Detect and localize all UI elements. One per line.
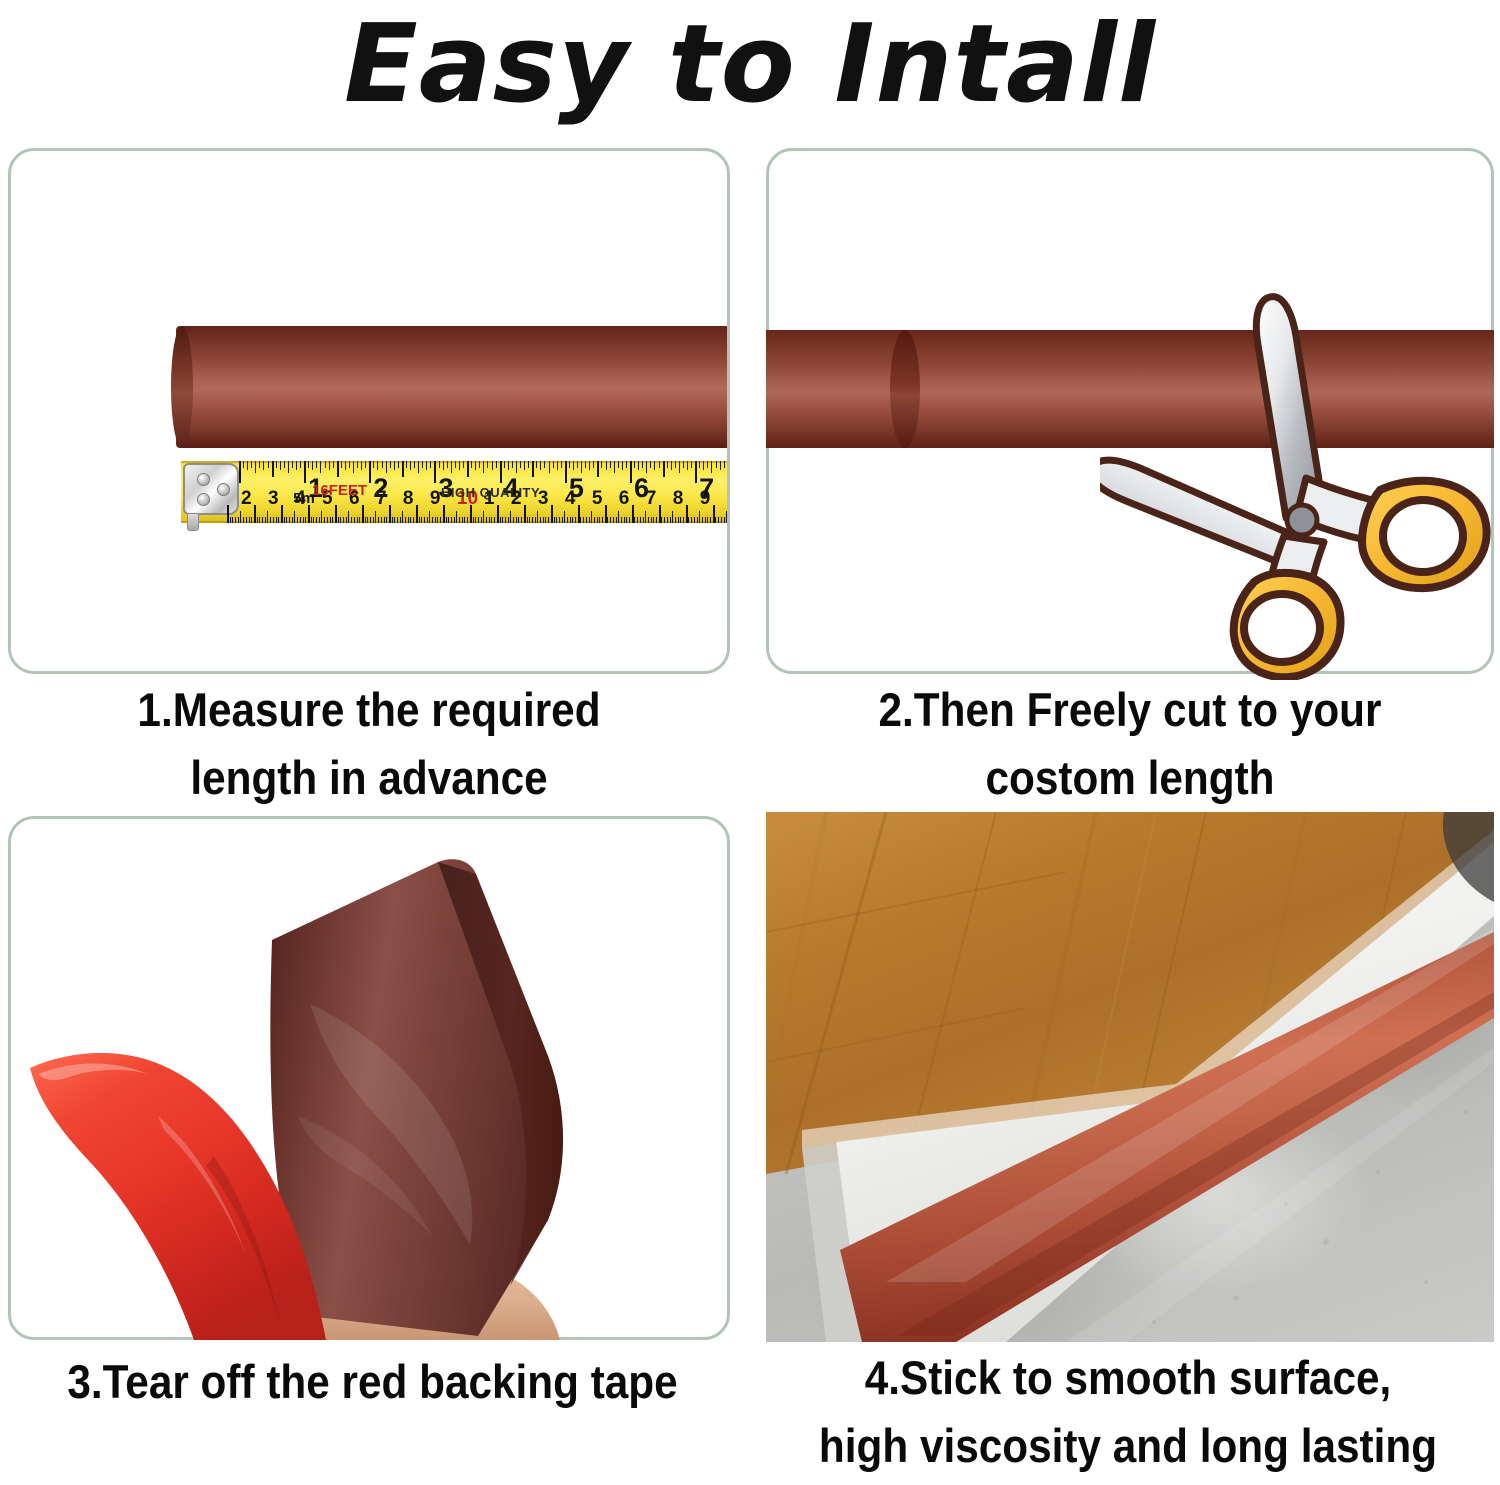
tape-tick-metric	[510, 511, 511, 523]
tape-tick-metric	[424, 517, 425, 523]
tape-tick-metric	[313, 517, 314, 523]
tape-tick-metric	[284, 517, 285, 523]
tape-tick-metric	[473, 517, 474, 523]
tape-tick-metric	[726, 511, 727, 523]
tape-tick-metric	[724, 517, 725, 523]
tape-tick-imperial	[500, 461, 502, 483]
tape-tick-imperial	[528, 461, 529, 468]
tape-tick-imperial	[614, 461, 615, 473]
tape-tick-metric	[594, 517, 595, 523]
page-title: Easy to Intall	[0, 0, 1500, 128]
tape-tick-metric	[648, 517, 649, 523]
tape-tick-imperial	[703, 461, 704, 470]
tape-tick-imperial	[288, 461, 289, 473]
tape-tick-imperial	[349, 461, 350, 468]
tape-tick-imperial	[618, 461, 619, 468]
tape-tick-metric	[230, 517, 231, 523]
tape-tick-imperial	[422, 461, 423, 468]
tape-tick-metric	[292, 517, 293, 523]
tape-tick-metric	[589, 517, 590, 523]
tape-hook	[183, 463, 239, 515]
tape-tick-imperial	[728, 461, 730, 477]
tape-tick-imperial	[398, 461, 399, 468]
tape-tick-metric	[602, 517, 603, 523]
tape-tick-metric	[721, 517, 722, 523]
tape-tick-metric	[621, 517, 622, 523]
tape-tick-metric	[251, 517, 252, 523]
tape-tick-metric	[578, 505, 580, 523]
tape-tick-metric	[435, 517, 436, 523]
tape-tick-metric	[443, 505, 445, 523]
tape-tick-imperial	[585, 461, 586, 468]
tape-metric-number: 5	[592, 489, 603, 508]
tape-tick-imperial	[361, 461, 362, 470]
tape-tick-metric	[467, 517, 468, 523]
tape-tick-metric	[637, 517, 638, 523]
tape-tick-metric	[246, 517, 247, 523]
tape-tick-metric	[421, 517, 422, 523]
tape-tick-metric	[624, 517, 625, 523]
tape-tick-metric	[402, 511, 403, 523]
tape-tick-imperial	[280, 461, 281, 470]
tape-metric-number: 9	[430, 489, 441, 508]
tape-tick-imperial	[597, 461, 599, 477]
tape-tick-imperial	[573, 461, 574, 470]
tape-tick-metric	[616, 517, 617, 523]
tape-tick-metric	[235, 517, 236, 523]
tape-tick-imperial	[659, 461, 660, 468]
tape-tick-imperial	[455, 461, 456, 468]
tape-tick-imperial	[532, 461, 534, 477]
tape-tick-imperial	[638, 461, 639, 470]
tape-tick-imperial	[471, 461, 472, 468]
tape-tick-metric	[705, 517, 706, 523]
tape-tick-metric	[451, 517, 452, 523]
tape-tick-metric	[413, 517, 414, 523]
tape-tick-metric	[240, 511, 241, 523]
tape-tick-metric	[319, 517, 320, 523]
tape-tick-metric	[691, 517, 692, 523]
tape-tick-imperial	[720, 461, 721, 470]
tape-tick-metric	[419, 517, 420, 523]
tape-tick-imperial	[451, 461, 452, 473]
tape-tick-metric	[613, 517, 614, 523]
tape-tick-metric	[688, 517, 689, 523]
tape-tick-metric	[278, 517, 279, 523]
tape-tick-metric	[238, 517, 239, 523]
tape-tick-metric	[564, 511, 565, 523]
tape-metric-number: 6	[619, 489, 630, 508]
tape-tick-metric	[464, 517, 465, 523]
tape-tick-metric	[384, 517, 385, 523]
tape-tick-metric	[664, 517, 665, 523]
tape-tick-metric	[707, 517, 708, 523]
tape-tick-metric	[675, 517, 676, 523]
tape-tick-metric	[478, 517, 479, 523]
tape-tick-metric	[373, 517, 374, 523]
tape-tick-imperial	[634, 461, 635, 468]
tape-tick-imperial	[292, 461, 293, 468]
tape-tick-metric	[338, 517, 339, 523]
tape-tick-imperial	[373, 461, 374, 468]
tape-tick-imperial	[540, 461, 541, 470]
tape-tick-metric	[429, 511, 430, 523]
tape-tick-metric	[694, 517, 695, 523]
tape-tick-imperial	[463, 461, 464, 468]
tape-tick-imperial	[581, 461, 582, 473]
tape-tick-metric	[494, 517, 495, 523]
tape-tick-metric	[537, 511, 538, 523]
tape-tick-imperial	[626, 461, 627, 468]
tape-tick-imperial	[508, 461, 509, 470]
tape-tick-imperial	[707, 461, 708, 468]
tape-tick-metric	[316, 517, 317, 523]
stick-scene	[766, 812, 1494, 1342]
tape-tick-imperial	[304, 461, 306, 483]
tape-metric-number: 8	[673, 489, 684, 508]
tape-tick-imperial	[475, 461, 476, 470]
tape-tick-metric	[340, 517, 341, 523]
tape-tick-imperial	[459, 461, 460, 470]
tape-tick-imperial	[577, 461, 578, 468]
tape-tick-imperial	[667, 461, 668, 468]
tape-tick-metric	[529, 517, 530, 523]
tape-tick-metric	[575, 517, 576, 523]
tape-tick-imperial	[365, 461, 366, 468]
tape-tick-metric	[343, 517, 344, 523]
tape-tick-metric	[454, 517, 455, 523]
tape-tick-metric	[535, 517, 536, 523]
tape-tick-metric	[672, 511, 673, 523]
tape-tick-metric	[521, 517, 522, 523]
tape-tick-imperial	[341, 461, 342, 468]
tape-tick-imperial	[606, 461, 607, 470]
tape-tick-imperial	[622, 461, 623, 470]
tape-tick-metric	[259, 517, 260, 523]
tape-tick-imperial	[561, 461, 562, 468]
tape-tick-metric	[634, 517, 635, 523]
tape-tick-imperial	[251, 461, 252, 468]
tape-tick-metric	[643, 517, 644, 523]
tape-tick-imperial	[593, 461, 594, 468]
tape-tick-metric	[583, 517, 584, 523]
tape-tick-imperial	[390, 461, 391, 468]
tape-tick-imperial	[434, 461, 436, 483]
tape-tick-imperial	[630, 461, 632, 483]
tape-tick-metric	[524, 505, 526, 523]
tape-tick-metric	[297, 517, 298, 523]
tape-tick-metric	[437, 517, 438, 523]
tape-tick-imperial	[479, 461, 480, 468]
tape-tick-imperial	[687, 461, 688, 470]
tape-tick-imperial	[711, 461, 712, 473]
tape-hook-rivet	[197, 473, 210, 486]
scissors-icon	[1100, 290, 1500, 680]
tape-tick-imperial	[557, 461, 558, 470]
tape-tick-metric	[683, 517, 684, 523]
tape-tick-imperial	[439, 461, 440, 468]
tape-tick-metric	[335, 505, 337, 523]
tape-metric-number: 2	[241, 489, 252, 508]
tape-tick-metric	[362, 505, 364, 523]
tape-tick-metric	[710, 517, 711, 523]
tape-tick-metric	[610, 517, 611, 523]
tape-tick-metric	[348, 511, 349, 523]
caption-measure-step: 1.Measure the required length in advance	[44, 676, 694, 812]
tape-tick-metric	[281, 505, 283, 523]
tape-tick-imperial	[671, 461, 672, 470]
tape-tick-metric	[389, 505, 391, 523]
tape-tick-imperial	[589, 461, 590, 470]
tape-tick-imperial	[549, 461, 550, 473]
tape-tick-metric	[527, 517, 528, 523]
tape-tick-metric	[410, 517, 411, 523]
tape-tick-imperial	[394, 461, 395, 470]
tape-tick-imperial	[337, 461, 339, 477]
tape-tick-metric	[678, 517, 679, 523]
tape-tick-imperial	[243, 461, 244, 468]
tape-tick-metric	[518, 517, 519, 523]
tape-tick-metric	[330, 517, 331, 523]
tape-tick-metric	[702, 517, 703, 523]
tape-tick-metric	[294, 511, 295, 523]
scissors-blade-lower	[1100, 460, 1300, 562]
tape-tick-imperial	[272, 461, 274, 477]
tape-tick-metric	[645, 511, 646, 523]
tape-tick-metric	[232, 517, 233, 523]
tape-tick-imperial	[650, 461, 651, 468]
tape-tick-metric	[346, 517, 347, 523]
tape-tick-metric	[462, 517, 463, 523]
scissors-finger-hole-right	[1383, 500, 1463, 572]
tape-tick-metric	[459, 517, 460, 523]
tape-tick-imperial	[418, 461, 419, 473]
tape-tick-metric	[516, 517, 517, 523]
tape-tick-metric	[632, 505, 634, 523]
tape-metric-number: 3	[268, 489, 279, 508]
tape-tick-metric	[513, 517, 514, 523]
tape-tick-imperial	[268, 461, 269, 468]
tape-tick-metric	[354, 517, 355, 523]
tape-tick-imperial	[333, 461, 334, 468]
panel-measure-step: 12345672345678910123456789 16FEET 5m HIG…	[8, 148, 730, 674]
tape-metric-number: 7	[376, 489, 387, 508]
tape-tick-imperial	[345, 461, 346, 470]
tape-tick-imperial	[642, 461, 643, 468]
tape-tick-metric	[257, 517, 258, 523]
tape-hook-rivet	[197, 493, 210, 506]
tape-tick-imperial	[247, 461, 248, 470]
tape-tick-metric	[405, 517, 406, 523]
tape-tick-metric	[286, 517, 287, 523]
tape-tick-imperial	[430, 461, 431, 468]
tape-tick-imperial	[536, 461, 537, 468]
tape-tick-imperial	[654, 461, 655, 470]
tape-tick-imperial	[492, 461, 493, 470]
tape-tick-imperial	[716, 461, 717, 468]
tape-tick-imperial	[512, 461, 513, 468]
tape-tick-metric	[554, 517, 555, 523]
tape-tick-metric	[432, 517, 433, 523]
tape-tick-metric	[686, 505, 688, 523]
tape-tick-metric	[718, 517, 719, 523]
tape-tick-imperial	[369, 461, 371, 483]
tape-tick-metric	[572, 517, 573, 523]
tape-tick-imperial	[308, 461, 309, 468]
tape-tick-imperial	[610, 461, 611, 468]
tape-tick-metric	[713, 505, 715, 523]
tape-tick-metric	[591, 511, 592, 523]
tape-tick-imperial	[569, 461, 570, 468]
tape-tick-imperial	[695, 461, 697, 483]
tape-tick-imperial	[520, 461, 521, 468]
tape-tick-metric	[543, 517, 544, 523]
tape-tick-metric	[640, 517, 641, 523]
tape-tick-imperial	[320, 461, 321, 473]
tape-tick-imperial	[239, 461, 241, 483]
tape-tick-imperial	[276, 461, 277, 468]
tape-tick-imperial	[325, 461, 326, 468]
tape-tick-imperial	[504, 461, 505, 468]
tape-tick-imperial	[565, 461, 567, 483]
tape-tick-imperial	[553, 461, 554, 468]
tape-tick-imperial	[382, 461, 383, 468]
tape-tick-metric	[559, 517, 560, 523]
tape-tick-metric	[491, 517, 492, 523]
tape-tick-metric	[626, 517, 627, 523]
tape-tick-metric	[567, 517, 568, 523]
tape-tick-metric	[697, 517, 698, 523]
tape-hook-rivet	[217, 483, 230, 496]
tape-tick-imperial	[414, 461, 415, 468]
tape-tick-metric	[324, 517, 325, 523]
tape-tick-metric	[489, 517, 490, 523]
tape-tick-metric	[659, 505, 661, 523]
tape-tick-imperial	[357, 461, 358, 468]
tape-tick-metric	[699, 511, 700, 523]
tape-tick-metric	[378, 517, 379, 523]
tape-tick-metric	[400, 517, 401, 523]
tape-tick-metric	[365, 517, 366, 523]
tape-tick-metric	[327, 517, 328, 523]
tape-tick-metric	[289, 517, 290, 523]
tape-tick-imperial	[496, 461, 497, 468]
tape-tick-imperial	[402, 461, 404, 477]
tape-tick-metric	[394, 517, 395, 523]
tape-tick-metric	[381, 517, 382, 523]
tape-tick-metric	[392, 517, 393, 523]
tape-tick-metric	[607, 517, 608, 523]
tape-tick-imperial	[679, 461, 680, 473]
tape-tick-imperial	[296, 461, 297, 470]
tape-tick-imperial	[516, 461, 517, 473]
caption-peel-step: 3.Tear off the red backing tape	[37, 1348, 708, 1416]
tape-tick-metric	[570, 517, 571, 523]
tape-tick-metric	[300, 517, 301, 523]
tape-tick-imperial	[426, 461, 427, 470]
tape-tick-metric	[551, 505, 553, 523]
tape-metric-number: 4	[565, 489, 576, 508]
tape-tick-metric	[729, 517, 730, 523]
tape-tick-metric	[545, 517, 546, 523]
tape-metric-number: 8	[403, 489, 414, 508]
tape-tick-metric	[580, 517, 581, 523]
tape-tick-metric	[332, 517, 333, 523]
scissors-pivot	[1287, 505, 1317, 535]
tape-tick-metric	[667, 517, 668, 523]
tape-tick-metric	[532, 517, 533, 523]
tape-tick-metric	[416, 505, 418, 523]
tape-tick-metric	[605, 505, 607, 523]
brown-strip-body	[176, 326, 730, 448]
tape-imperial-label: 16FEET	[312, 483, 367, 498]
tape-tick-metric	[446, 517, 447, 523]
tape-tick-metric	[505, 517, 506, 523]
tape-tick-imperial	[377, 461, 378, 470]
tape-tick-imperial	[353, 461, 354, 473]
tape-tick-imperial	[646, 461, 647, 473]
tape-tick-imperial	[263, 461, 264, 470]
tape-tick-imperial	[675, 461, 676, 468]
tape-tick-metric	[540, 517, 541, 523]
tape-tick-imperial	[699, 461, 700, 468]
tape-tick-metric	[562, 517, 563, 523]
tape-tick-metric	[456, 511, 457, 523]
tape-tick-metric	[249, 517, 250, 523]
tape-tick-imperial	[467, 461, 469, 477]
tape-tick-metric	[273, 517, 274, 523]
tape-tick-imperial	[300, 461, 301, 468]
tape-tick-metric	[270, 517, 271, 523]
tape-tick-metric	[715, 517, 716, 523]
tape-tick-metric	[500, 517, 501, 523]
tape-tick-metric	[653, 517, 654, 523]
tape-tick-metric	[408, 517, 409, 523]
tape-tick-imperial	[683, 461, 684, 468]
tape-tick-metric	[548, 517, 549, 523]
tape-tick-imperial	[724, 461, 725, 468]
tape-tick-metric	[311, 517, 312, 523]
tape-tick-imperial	[447, 461, 448, 468]
tape-tick-metric	[483, 511, 484, 523]
tape-tick-imperial	[386, 461, 387, 473]
tape-tick-metric	[599, 517, 600, 523]
tape-tick-metric	[267, 511, 268, 523]
tape-tick-metric	[597, 517, 598, 523]
tape-tick-imperial	[691, 461, 692, 468]
tape-tick-imperial	[443, 461, 444, 470]
tape-tick-metric	[629, 517, 630, 523]
tape-tick-metric	[276, 517, 277, 523]
tape-tick-imperial	[284, 461, 285, 468]
tape-tick-metric	[497, 505, 499, 523]
tape-tick-metric	[265, 517, 266, 523]
caption-cut-step: 2.Then Freely cut to your costom length	[802, 676, 1457, 812]
tape-tick-imperial	[312, 461, 313, 470]
tape-tick-metric	[448, 517, 449, 523]
tape-tick-metric	[303, 517, 304, 523]
tape-tick-metric	[397, 517, 398, 523]
tape-tick-metric	[367, 517, 368, 523]
brown-strip-left-cap	[171, 326, 193, 448]
tape-hook-tab	[187, 513, 199, 531]
tape-tick-metric	[243, 517, 244, 523]
tape-tick-imperial	[255, 461, 256, 473]
tape-tick-imperial	[524, 461, 525, 470]
tape-tick-metric	[321, 511, 322, 523]
tape-tick-metric	[651, 517, 652, 523]
tape-tick-metric	[618, 511, 619, 523]
